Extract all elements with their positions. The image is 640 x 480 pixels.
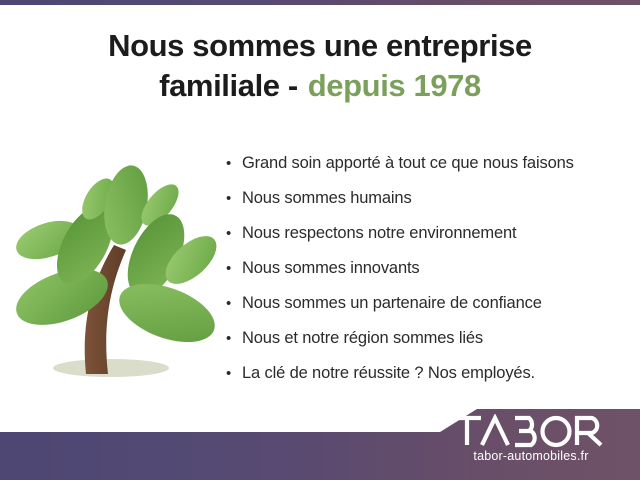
top-accent-strip: [0, 0, 640, 5]
footer-brand-bar: tabor-automobiles.fr: [0, 400, 640, 480]
tree-illustration: [8, 150, 218, 390]
headline-line-2: familiale -depuis 1978: [0, 66, 640, 106]
headline-line-2-black: familiale -: [159, 68, 298, 103]
list-item: • Nous sommes un partenaire de confiance: [226, 286, 626, 321]
bullet-marker-icon: •: [226, 321, 242, 356]
page-title: Nous sommes une entreprise familiale -de…: [0, 26, 640, 106]
list-item-label: La clé de notre réussite ? Nos employés.: [242, 356, 535, 391]
bullet-marker-icon: •: [226, 216, 242, 251]
list-item-label: Nous sommes innovants: [242, 251, 420, 286]
list-item: • La clé de notre réussite ? Nos employé…: [226, 356, 626, 391]
list-item-label: Nous sommes un partenaire de confiance: [242, 286, 542, 321]
bullet-marker-icon: •: [226, 146, 242, 181]
value-list: • Grand soin apporté à tout ce que nous …: [226, 146, 626, 391]
list-item: • Nous respectons notre environnement: [226, 216, 626, 251]
list-item: • Nous sommes innovants: [226, 251, 626, 286]
list-item: • Nous sommes humains: [226, 181, 626, 216]
list-item-label: Nous et notre région sommes liés: [242, 321, 483, 356]
bullet-marker-icon: •: [226, 356, 242, 391]
bullet-marker-icon: •: [226, 181, 242, 216]
headline-line-1: Nous sommes une entreprise: [0, 26, 640, 66]
brand-url: tabor-automobiles.fr: [436, 449, 626, 464]
list-item-label: Nous sommes humains: [242, 181, 412, 216]
list-item: • Nous et notre région sommes liés: [226, 321, 626, 356]
tree-leaf: [111, 272, 218, 353]
brand-logo: tabor-automobiles.fr: [436, 414, 626, 464]
list-item-label: Nous respectons notre environnement: [242, 216, 517, 251]
list-item: • Grand soin apporté à tout ce que nous …: [226, 146, 626, 181]
list-item-label: Grand soin apporté à tout ce que nous fa…: [242, 146, 574, 181]
slide-canvas: Nous sommes une entreprise familiale -de…: [0, 0, 640, 480]
tree-shadow: [53, 359, 169, 377]
tabor-wordmark-icon: [436, 414, 626, 448]
headline-line-2-green: depuis 1978: [308, 68, 481, 103]
bullet-marker-icon: •: [226, 251, 242, 286]
bullet-marker-icon: •: [226, 286, 242, 321]
